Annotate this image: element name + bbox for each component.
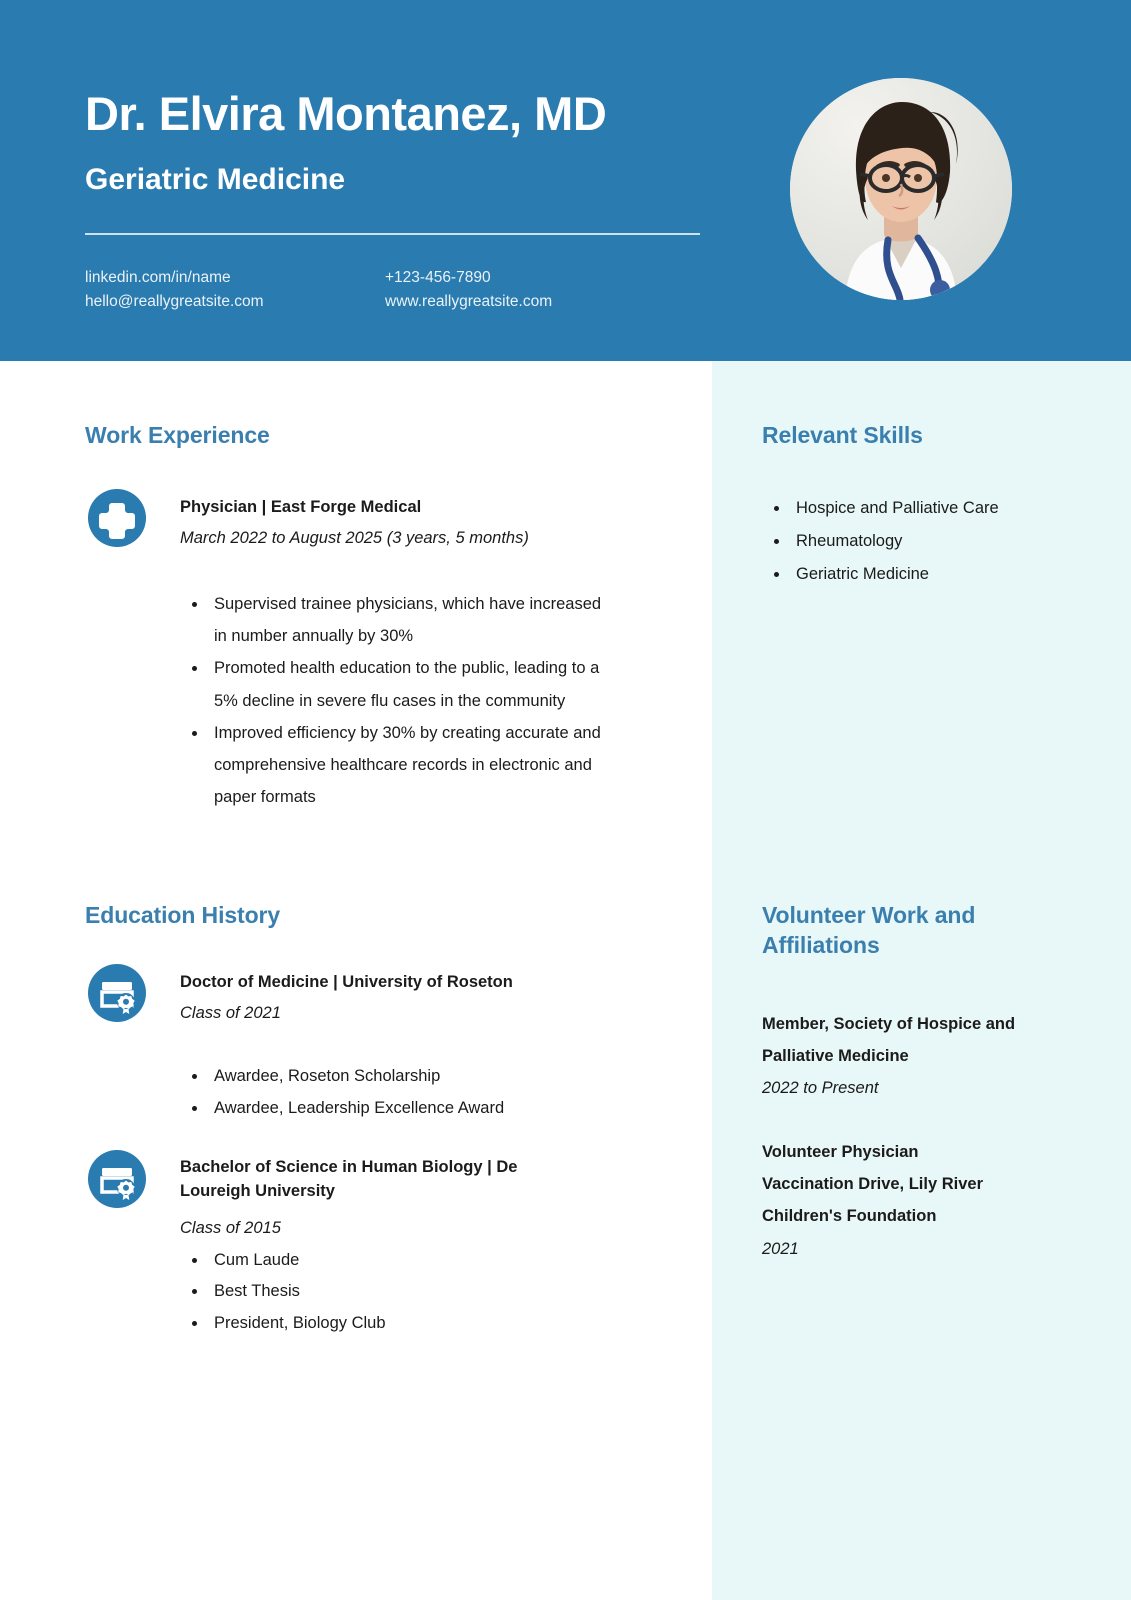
volunteer-work-heading: Volunteer Work and Affiliations	[762, 901, 1062, 961]
header-divider	[85, 233, 700, 235]
diploma-icon	[88, 964, 146, 1022]
list-item: Improved efficiency by 30% by creating a…	[208, 717, 606, 814]
contact-column-left: linkedin.com/in/name hello@reallygreatsi…	[85, 266, 264, 314]
page-title: Dr. Elvira Montanez, MD	[85, 89, 606, 138]
subtitle-specialty: Geriatric Medicine	[85, 163, 345, 196]
volunteer-entry-date: 2022 to Present	[762, 1072, 1062, 1104]
relevant-skills-heading: Relevant Skills	[762, 421, 923, 451]
education-entry-title: Bachelor of Science in Human Biology | D…	[180, 1155, 580, 1204]
email-link[interactable]: hello@reallygreatsite.com	[85, 290, 264, 314]
volunteer-entry-line: Vaccination Drive, Lily River	[762, 1168, 1062, 1200]
portrait-illustration	[790, 78, 1012, 300]
work-entry-title: Physician | East Forge Medical	[180, 495, 421, 519]
education-entry-class: Class of 2021	[180, 1001, 281, 1025]
list-item: Best Thesis	[208, 1276, 616, 1307]
website-link[interactable]: www.reallygreatsite.com	[385, 290, 552, 314]
resume-header: Dr. Elvira Montanez, MD Geriatric Medici…	[0, 0, 1131, 361]
education-history-heading: Education History	[85, 901, 280, 931]
volunteer-entry-line: Palliative Medicine	[762, 1040, 1062, 1072]
list-item: Geriatric Medicine	[790, 558, 1098, 591]
volunteer-entry-date: 2021	[762, 1233, 1062, 1265]
volunteer-entry-line: Volunteer Physician	[762, 1136, 1062, 1168]
list-item: President, Biology Club	[208, 1308, 616, 1339]
volunteer-entry: Member, Society of Hospice and Palliativ…	[762, 1008, 1062, 1105]
avatar	[790, 78, 1012, 300]
education-bullet-list-1: Awardee, Roseton Scholarship Awardee, Le…	[186, 1060, 616, 1124]
resume-page: Dr. Elvira Montanez, MD Geriatric Medici…	[0, 0, 1131, 1600]
phone-number[interactable]: +123-456-7890	[385, 266, 552, 290]
volunteer-entry-line: Children's Foundation	[762, 1200, 1062, 1232]
list-item: Rheumatology	[790, 525, 1098, 558]
volunteer-entry-line: Member, Society of Hospice and	[762, 1008, 1062, 1040]
linkedin-link[interactable]: linkedin.com/in/name	[85, 266, 264, 290]
medical-cross-icon	[88, 489, 146, 547]
work-bullet-list: Supervised trainee physicians, which hav…	[186, 588, 606, 813]
diploma-icon	[88, 1150, 146, 1208]
list-item: Supervised trainee physicians, which hav…	[208, 588, 606, 652]
volunteer-entry: Volunteer Physician Vaccination Drive, L…	[762, 1136, 1062, 1265]
education-bullet-list-2: Cum Laude Best Thesis President, Biology…	[186, 1245, 616, 1339]
work-experience-heading: Work Experience	[85, 421, 270, 451]
list-item: Promoted health education to the public,…	[208, 652, 606, 716]
contact-column-right: +123-456-7890 www.reallygreatsite.com	[385, 266, 552, 314]
work-entry-dates: March 2022 to August 2025 (3 years, 5 mo…	[180, 526, 529, 550]
education-entry-title: Doctor of Medicine | University of Roset…	[180, 970, 513, 994]
list-item: Awardee, Leadership Excellence Award	[208, 1092, 616, 1124]
education-entry-class: Class of 2015	[180, 1216, 281, 1240]
list-item: Cum Laude	[208, 1245, 616, 1276]
list-item: Awardee, Roseton Scholarship	[208, 1060, 616, 1092]
skills-list: Hospice and Palliative Care Rheumatology…	[768, 492, 1098, 591]
list-item: Hospice and Palliative Care	[790, 492, 1098, 525]
